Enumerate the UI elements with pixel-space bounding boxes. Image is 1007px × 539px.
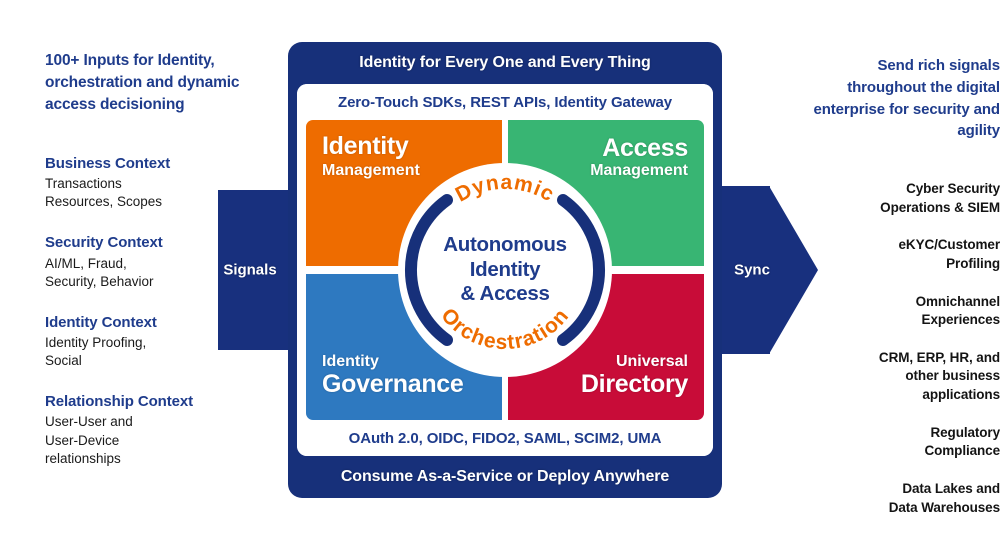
- right-outputs-column: Send rich signals throughout the digital…: [795, 55, 1000, 536]
- output-line: Cyber Security: [795, 180, 1000, 199]
- left-lead-text: 100+ Inputs for Identity, orchestration …: [45, 50, 245, 116]
- card-top-banner: Identity for Every One and Every Thing: [288, 42, 722, 84]
- context-title-identity: Identity Context: [45, 313, 245, 333]
- center-core-line: Identity: [398, 258, 612, 283]
- output-item-regulatory-compliance: Regulatory Compliance: [795, 424, 1000, 461]
- context-lines-business: Transactions Resources, Scopes: [45, 175, 245, 211]
- left-inputs-column: 100+ Inputs for Identity, orchestration …: [45, 50, 245, 468]
- quadrant-title-line1: Identity: [322, 132, 486, 160]
- output-item-data-lakes: Data Lakes and Data Warehouses: [795, 480, 1000, 517]
- context-block-relationship: Relationship Context User-User and User-…: [45, 392, 245, 467]
- context-lines-security: AI/ML, Fraud, Security, Behavior: [45, 255, 245, 291]
- context-lines-identity: Identity Proofing, Social: [45, 334, 245, 370]
- context-line: Identity Proofing,: [45, 334, 245, 352]
- context-lines-relationship: User-User and User-Device relationships: [45, 413, 245, 467]
- quadrant-grid: Identity Management Access Management Id…: [306, 120, 704, 420]
- context-title-security: Security Context: [45, 233, 245, 253]
- standards-row-bottom: OAuth 2.0, OIDC, FIDO2, SAML, SCIM2, UMA: [297, 420, 713, 456]
- sync-arrow: Sync: [712, 186, 817, 354]
- output-line: Profiling: [795, 255, 1000, 274]
- output-item-business-applications: CRM, ERP, HR, and other business applica…: [795, 349, 1000, 405]
- output-line: Data Lakes and: [795, 480, 1000, 499]
- output-line: Experiences: [795, 311, 1000, 330]
- output-item-cyber-security: Cyber Security Operations & SIEM: [795, 180, 1000, 217]
- output-line: eKYC/Customer: [795, 236, 1000, 255]
- context-line: User-Device: [45, 432, 245, 450]
- svg-text:Orchestration: Orchestration: [436, 304, 573, 354]
- context-line: Security, Behavior: [45, 273, 245, 291]
- context-title-business: Business Context: [45, 154, 245, 174]
- output-line: applications: [795, 386, 1000, 405]
- context-line: AI/ML, Fraud,: [45, 255, 245, 273]
- outputs-list: Cyber Security Operations & SIEM eKYC/Cu…: [795, 180, 1000, 517]
- signals-arrow-label: Signals: [218, 262, 282, 279]
- output-item-ekyc: eKYC/Customer Profiling: [795, 236, 1000, 273]
- context-line: Social: [45, 352, 245, 370]
- quadrant-title-line1: Access: [524, 134, 688, 162]
- center-core-line: Autonomous: [398, 233, 612, 258]
- center-circle: Dynamic Orchestration Autonomous Identit…: [398, 163, 612, 377]
- output-line: Compliance: [795, 442, 1000, 461]
- output-line: CRM, ERP, HR, and: [795, 349, 1000, 368]
- platform-card: Identity for Every One and Every Thing C…: [288, 42, 722, 498]
- context-line: Transactions: [45, 175, 245, 193]
- arc-label-orchestration: Orchestration: [436, 304, 573, 354]
- diagram-canvas: 100+ Inputs for Identity, orchestration …: [0, 0, 1007, 539]
- card-bottom-banner: Consume As-a-Service or Deploy Anywhere: [288, 456, 722, 498]
- card-inner-panel: Zero-Touch SDKs, REST APIs, Identity Gat…: [297, 84, 713, 456]
- output-item-omnichannel: Omnichannel Experiences: [795, 293, 1000, 330]
- context-line: relationships: [45, 450, 245, 468]
- arc-label-dynamic: Dynamic: [452, 171, 559, 207]
- context-title-relationship: Relationship Context: [45, 392, 245, 412]
- output-line: Regulatory: [795, 424, 1000, 443]
- context-block-business: Business Context Transactions Resources,…: [45, 154, 245, 211]
- svg-text:Dynamic: Dynamic: [452, 171, 559, 207]
- output-line: Omnichannel: [795, 293, 1000, 312]
- center-core-text: Autonomous Identity & Access: [398, 233, 612, 307]
- right-lead-text: Send rich signals throughout the digital…: [795, 55, 1000, 142]
- sync-arrow-label: Sync: [718, 262, 786, 279]
- output-line: Data Warehouses: [795, 499, 1000, 518]
- output-line: Operations & SIEM: [795, 199, 1000, 218]
- standards-row-top: Zero-Touch SDKs, REST APIs, Identity Gat…: [297, 84, 713, 120]
- context-line: User-User and: [45, 413, 245, 431]
- output-line: other business: [795, 367, 1000, 386]
- context-block-identity: Identity Context Identity Proofing, Soci…: [45, 313, 245, 370]
- center-core-line: & Access: [398, 282, 612, 307]
- context-line: Resources, Scopes: [45, 193, 245, 211]
- context-block-security: Security Context AI/ML, Fraud, Security,…: [45, 233, 245, 290]
